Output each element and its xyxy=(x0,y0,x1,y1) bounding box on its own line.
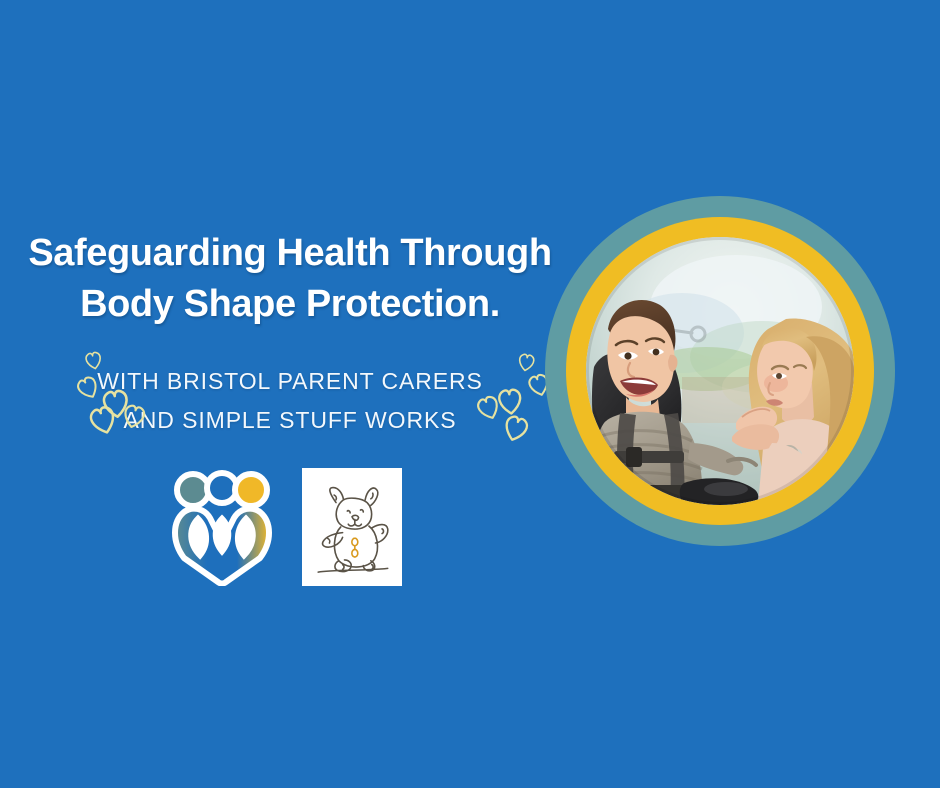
partner-logo-row xyxy=(168,468,402,586)
teddy-bear-sketch-icon xyxy=(305,471,399,583)
circular-photo xyxy=(545,196,895,546)
poster-subtitle: WITH BRISTOL PARENT CARERS AND SIMPLE ST… xyxy=(0,362,580,440)
bristol-parent-carers-logo xyxy=(168,468,276,586)
photo-image-disc xyxy=(586,237,854,505)
simple-stuff-works-logo xyxy=(302,468,402,586)
poster-canvas: Safeguarding Health Through Body Shape P… xyxy=(0,0,940,788)
page-title: Safeguarding Health Through Body Shape P… xyxy=(0,228,580,331)
photo-illustration xyxy=(586,237,854,505)
